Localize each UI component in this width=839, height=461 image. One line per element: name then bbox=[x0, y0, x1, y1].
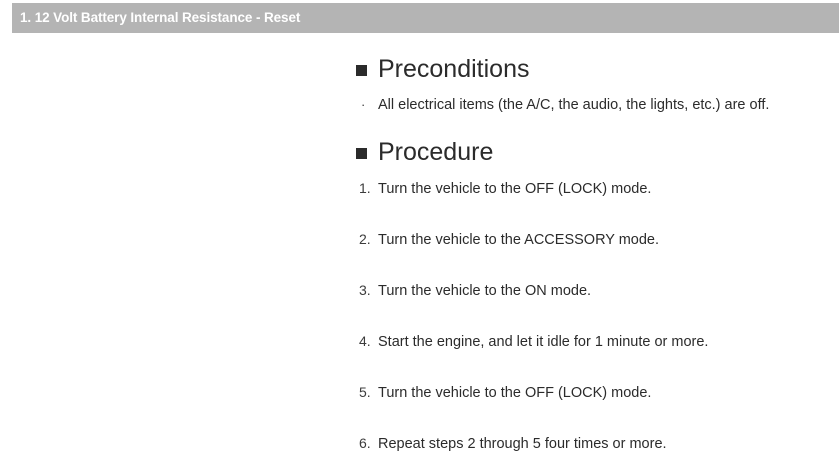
step-number: 1. bbox=[356, 179, 378, 197]
square-bullet-icon bbox=[356, 65, 367, 76]
bullet-dot-icon: · bbox=[356, 96, 378, 114]
step-number: 2. bbox=[356, 230, 378, 248]
step-label: Start the engine, and let it idle for 1 … bbox=[378, 333, 708, 352]
document-content: Preconditions · All electrical items (th… bbox=[0, 36, 839, 461]
step-label: Turn the vehicle to the ON mode. bbox=[378, 282, 591, 301]
preconditions-heading-label: Preconditions bbox=[378, 56, 529, 84]
procedure-step-5: 5. Turn the vehicle to the OFF (LOCK) mo… bbox=[356, 383, 826, 403]
procedure-step-1: 1. Turn the vehicle to the OFF (LOCK) mo… bbox=[356, 179, 826, 199]
list-item-label: All electrical items (the A/C, the audio… bbox=[378, 96, 769, 116]
procedure-heading-label: Procedure bbox=[378, 139, 493, 167]
step-number: 3. bbox=[356, 281, 378, 299]
step-label: Turn the vehicle to the ACCESSORY mode. bbox=[378, 231, 659, 250]
step-label: Repeat steps 2 through 5 four times or m… bbox=[378, 435, 667, 454]
section-header-bar: 1. 12 Volt Battery Internal Resistance -… bbox=[12, 3, 839, 33]
procedure-step-2: 2. Turn the vehicle to the ACCESSORY mod… bbox=[356, 230, 826, 250]
list-item: · All electrical items (the A/C, the aud… bbox=[356, 96, 826, 116]
square-bullet-icon bbox=[356, 148, 367, 159]
step-number: 4. bbox=[356, 332, 378, 350]
step-number: 6. bbox=[356, 434, 378, 452]
procedure-step-6: 6. Repeat steps 2 through 5 four times o… bbox=[356, 434, 826, 454]
step-label: Turn the vehicle to the OFF (LOCK) mode. bbox=[378, 180, 651, 199]
preconditions-list: · All electrical items (the A/C, the aud… bbox=[356, 96, 826, 116]
procedure-heading: Procedure bbox=[356, 139, 826, 167]
procedure-step-3: 3. Turn the vehicle to the ON mode. bbox=[356, 281, 826, 301]
section-header-title: 1. 12 Volt Battery Internal Resistance -… bbox=[20, 11, 300, 25]
step-label: Turn the vehicle to the OFF (LOCK) mode. bbox=[378, 384, 651, 403]
preconditions-heading: Preconditions bbox=[356, 56, 826, 84]
step-number: 5. bbox=[356, 383, 378, 401]
section-header-strip: 1. 12 Volt Battery Internal Resistance -… bbox=[0, 0, 839, 36]
procedure-step-4: 4. Start the engine, and let it idle for… bbox=[356, 332, 826, 352]
